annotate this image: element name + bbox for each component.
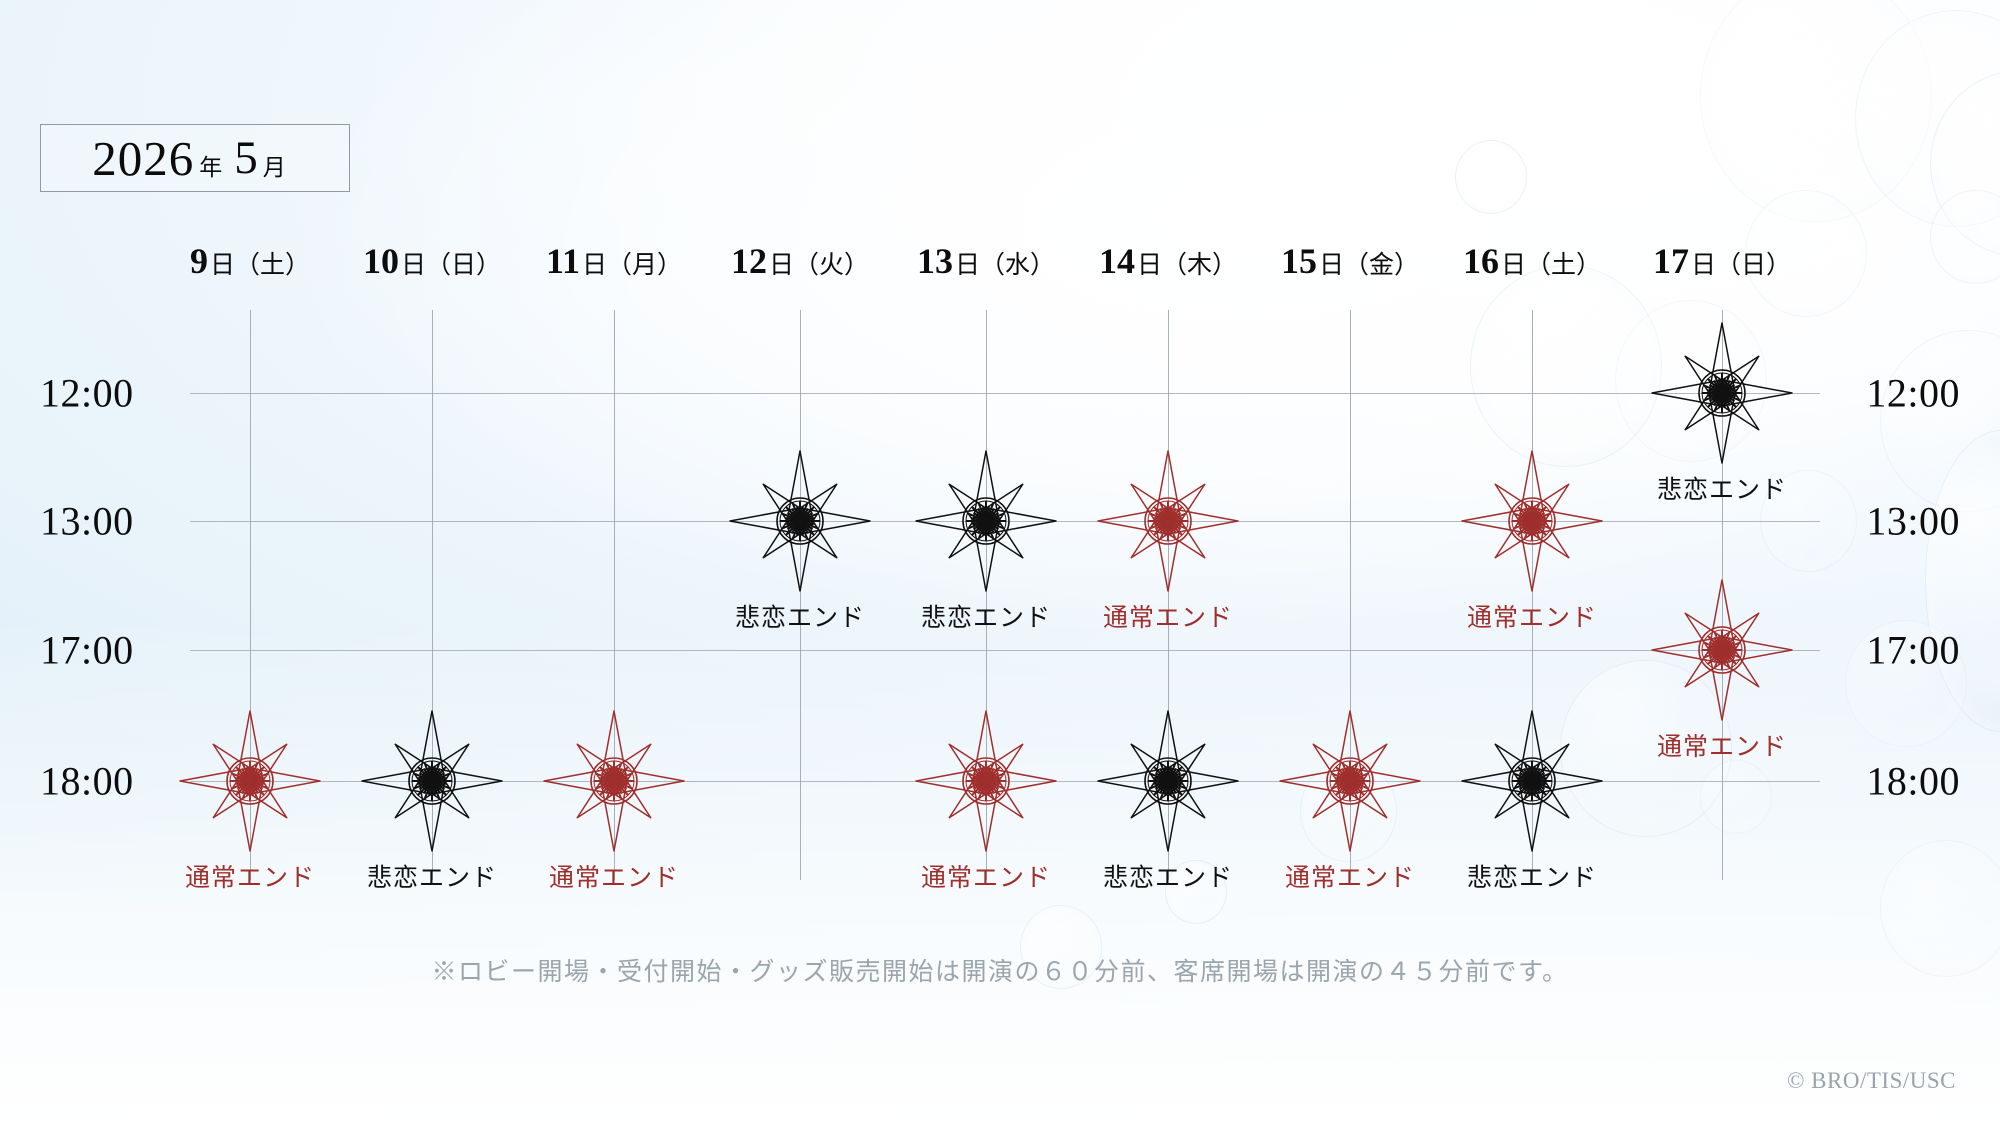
compass-rose-star-icon bbox=[519, 706, 709, 856]
show-marker[interactable]: 通常エンド bbox=[891, 706, 1081, 856]
time-label-right-1300: 13:00 bbox=[1866, 498, 1960, 545]
day-header-14: 14日（木） bbox=[1099, 240, 1237, 282]
show-ending-label: 通常エンド bbox=[185, 858, 315, 894]
day-number: 16 bbox=[1463, 241, 1499, 281]
compass-rose-star-icon bbox=[891, 446, 1081, 596]
time-label-left-1200: 12:00 bbox=[40, 370, 134, 417]
show-ending-label: 悲恋エンド bbox=[367, 858, 497, 894]
day-suffix: 日（金） bbox=[1319, 252, 1419, 279]
time-label-right-1700: 17:00 bbox=[1866, 627, 1960, 674]
time-label-right-1200: 12:00 bbox=[1866, 370, 1960, 417]
day-number: 14 bbox=[1099, 241, 1135, 281]
schedule-note: ※ロビー開場・受付開始・グッズ販売開始は開演の６０分前、客席開場は開演の４５分前… bbox=[0, 952, 2000, 988]
day-suffix: 日（日） bbox=[1691, 252, 1791, 279]
show-ending-label: 悲恋エンド bbox=[735, 598, 865, 634]
day-header-9: 9日（土） bbox=[190, 240, 310, 282]
compass-rose-star-icon bbox=[1073, 446, 1263, 596]
day-header-17: 17日（日） bbox=[1653, 240, 1791, 282]
show-ending-label: 通常エンド bbox=[549, 858, 679, 894]
day-number: 15 bbox=[1281, 241, 1317, 281]
show-marker[interactable]: 悲恋エンド bbox=[1627, 318, 1817, 468]
grid-hline-1200 bbox=[190, 393, 1820, 394]
time-label-right-1800: 18:00 bbox=[1866, 758, 1960, 805]
show-ending-label: 通常エンド bbox=[1467, 598, 1597, 634]
day-suffix: 日（月） bbox=[582, 252, 682, 279]
show-marker[interactable]: 悲恋エンド bbox=[705, 446, 895, 596]
show-marker[interactable]: 通常エンド bbox=[1073, 446, 1263, 596]
show-ending-label: 通常エンド bbox=[921, 858, 1051, 894]
show-ending-label: 悲恋エンド bbox=[1103, 858, 1233, 894]
show-marker[interactable]: 通常エンド bbox=[155, 706, 345, 856]
time-label-left-1800: 18:00 bbox=[40, 758, 134, 805]
day-number: 12 bbox=[731, 241, 767, 281]
day-header-15: 15日（金） bbox=[1281, 240, 1419, 282]
day-number: 10 bbox=[363, 241, 399, 281]
show-ending-label: 通常エンド bbox=[1103, 598, 1233, 634]
show-marker[interactable]: 悲恋エンド bbox=[1437, 706, 1627, 856]
day-header-10: 10日（日） bbox=[363, 240, 501, 282]
day-number: 11 bbox=[546, 241, 580, 281]
day-header-16: 16日（土） bbox=[1463, 240, 1601, 282]
compass-rose-star-icon bbox=[1437, 706, 1627, 856]
show-ending-label: 通常エンド bbox=[1285, 858, 1415, 894]
compass-rose-star-icon bbox=[1073, 706, 1263, 856]
show-marker[interactable]: 通常エンド bbox=[1627, 575, 1817, 725]
day-suffix: 日（火） bbox=[769, 252, 869, 279]
show-ending-label: 悲恋エンド bbox=[1467, 858, 1597, 894]
show-marker[interactable]: 通常エンド bbox=[1437, 446, 1627, 596]
compass-rose-star-icon bbox=[1627, 318, 1817, 468]
compass-rose-star-icon bbox=[891, 706, 1081, 856]
show-marker[interactable]: 悲恋エンド bbox=[1073, 706, 1263, 856]
day-number: 13 bbox=[917, 241, 953, 281]
show-ending-label: 悲恋エンド bbox=[921, 598, 1051, 634]
day-header-13: 13日（水） bbox=[917, 240, 1055, 282]
show-marker[interactable]: 悲恋エンド bbox=[337, 706, 527, 856]
compass-rose-star-icon bbox=[337, 706, 527, 856]
show-ending-label: 悲恋エンド bbox=[1657, 470, 1787, 506]
compass-rose-star-icon bbox=[1437, 446, 1627, 596]
day-number: 17 bbox=[1653, 241, 1689, 281]
day-suffix: 日（日） bbox=[401, 252, 501, 279]
day-suffix: 日（土） bbox=[210, 252, 310, 279]
day-header-12: 12日（火） bbox=[731, 240, 869, 282]
copyright-text: © BRO/TIS/USC bbox=[1787, 1068, 1956, 1094]
compass-rose-star-icon bbox=[705, 446, 895, 596]
day-header-11: 11日（月） bbox=[546, 240, 682, 282]
show-marker[interactable]: 通常エンド bbox=[1255, 706, 1445, 856]
show-marker[interactable]: 悲恋エンド bbox=[891, 446, 1081, 596]
show-marker[interactable]: 通常エンド bbox=[519, 706, 709, 856]
show-ending-label: 通常エンド bbox=[1657, 727, 1787, 763]
day-suffix: 日（木） bbox=[1137, 252, 1237, 279]
day-suffix: 日（水） bbox=[955, 252, 1055, 279]
compass-rose-star-icon bbox=[155, 706, 345, 856]
compass-rose-star-icon bbox=[1627, 575, 1817, 725]
day-number: 9 bbox=[190, 241, 208, 281]
grid-hline-1700 bbox=[190, 650, 1820, 651]
compass-rose-star-icon bbox=[1255, 706, 1445, 856]
time-label-left-1300: 13:00 bbox=[40, 498, 134, 545]
day-suffix: 日（土） bbox=[1501, 252, 1601, 279]
time-label-left-1700: 17:00 bbox=[40, 627, 134, 674]
